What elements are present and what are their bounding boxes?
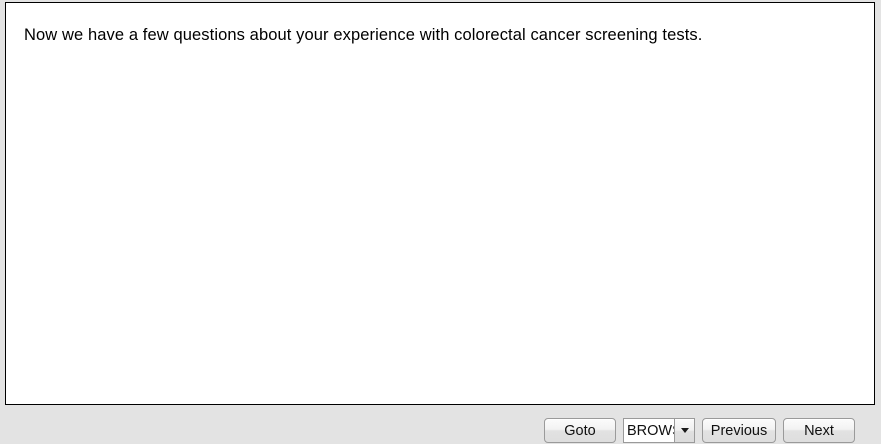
toolbar-controls: Goto BROWS Previous Next	[544, 418, 855, 443]
browse-select[interactable]: BROWS	[623, 418, 695, 443]
question-content-panel: Now we have a few questions about your e…	[5, 2, 875, 405]
bottom-toolbar: Goto BROWS Previous Next	[0, 406, 881, 444]
previous-button[interactable]: Previous	[702, 418, 776, 443]
survey-window: Now we have a few questions about your e…	[0, 0, 881, 444]
browse-select-value[interactable]: BROWS	[624, 419, 674, 442]
next-button[interactable]: Next	[783, 418, 855, 443]
chevron-down-icon[interactable]	[674, 419, 694, 442]
goto-button[interactable]: Goto	[544, 418, 616, 443]
chevron-down-glyph	[681, 428, 689, 433]
question-text: Now we have a few questions about your e…	[24, 25, 844, 46]
